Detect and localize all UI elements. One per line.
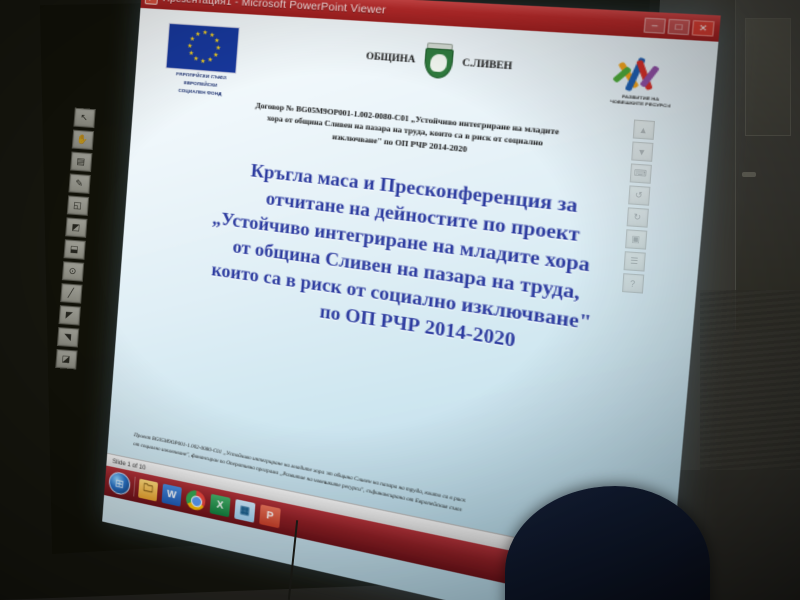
tool-eraser-icon[interactable]: ◱	[66, 195, 88, 216]
door-panel	[745, 18, 791, 136]
eu-star-icon: ★	[189, 37, 193, 41]
hr-logo-mark-icon	[599, 50, 687, 98]
slide-title: Кръгла маса и Пресконференция за отчитан…	[135, 147, 683, 377]
municipality-label-left: ОБЩИНА	[366, 50, 416, 64]
eu-star-icon: ★	[202, 31, 206, 35]
eu-star-icon: ★	[187, 44, 191, 48]
tool-pointer-icon[interactable]: ↖	[73, 108, 95, 129]
tool-hand-icon[interactable]: ✋	[71, 130, 93, 151]
eu-star-icon: ★	[209, 33, 213, 37]
tool-page-up-icon[interactable]: ▲	[632, 119, 654, 139]
sliven-coat-of-arms-icon	[421, 41, 457, 81]
tool-select-icon[interactable]: ⬓	[63, 239, 85, 260]
window-controls: – □ ✕	[644, 17, 715, 36]
start-button[interactable]: ⊞	[108, 470, 131, 496]
eu-star-icon: ★	[200, 60, 204, 64]
powerpoint-icon: P	[145, 0, 159, 4]
eu-star-icon: ★	[207, 58, 211, 62]
eu-star-icon: ★	[214, 39, 218, 43]
human-resources-development-logo: РАЗВИТИЕ НА ЧОВЕШКИТЕ РЕСУРСИ	[598, 50, 687, 110]
tool-undo-icon[interactable]: ↺	[628, 185, 650, 205]
eu-star-icon: ★	[193, 57, 197, 61]
eu-star-icon: ★	[195, 33, 199, 37]
eu-star-icon: ★	[188, 52, 192, 56]
tool-help-icon[interactable]: ?	[621, 273, 643, 293]
tool-menu-icon[interactable]: ☰	[623, 251, 645, 271]
tool-pen-icon[interactable]: ✎	[68, 173, 90, 194]
taskbar-icon-chrome[interactable]	[185, 488, 206, 511]
municipality-label-right: С.ЛИВЕН	[462, 57, 513, 72]
taskbar-icon-powerpoint[interactable]: P	[259, 504, 281, 528]
maximize-button[interactable]: □	[667, 18, 690, 35]
tool-draw-icon[interactable]: ◤	[58, 305, 80, 326]
tool-save-icon[interactable]: ▣	[625, 229, 647, 249]
tool-page-down-icon[interactable]: ▼	[631, 141, 653, 161]
tool-redo-icon[interactable]: ↻	[626, 207, 648, 227]
tool-zoom-icon[interactable]: ⊙	[61, 261, 83, 282]
photo-of-classroom-projection: P Презентация1 - Microsoft PowerPoint Vi…	[0, 0, 800, 600]
european-union-flag-icon: ★★★★★★★★★★★★	[165, 23, 239, 74]
taskbar-icon-word[interactable]: W	[162, 483, 182, 506]
taskbar-icon-media[interactable]: ▦	[234, 499, 255, 523]
municipality-block: ОБЩИНА С.ЛИВЕН	[318, 34, 567, 88]
eu-logo: ★★★★★★★★★★★★ ЕВРОПЕЙСКИ СЪЮЗ ЕВРОПЕЙСКИ …	[164, 23, 242, 100]
tool-highlighter-icon[interactable]: ▤	[70, 151, 92, 172]
taskbar-icon-excel[interactable]: X	[210, 493, 231, 517]
eu-star-icon: ★	[213, 53, 217, 57]
door-handle	[742, 172, 756, 177]
minimize-button[interactable]: –	[644, 17, 667, 33]
taskbar-icon-folder[interactable]: 🗀	[138, 478, 158, 501]
tool-color-icon[interactable]: ◪	[55, 349, 77, 370]
tool-line-icon[interactable]: ╱	[60, 283, 82, 304]
tool-shape-icon[interactable]: ◩	[65, 217, 87, 238]
tool-arrow-icon[interactable]: ◥	[56, 327, 78, 348]
close-button[interactable]: ✕	[692, 19, 715, 36]
eu-star-icon: ★	[215, 46, 219, 50]
taskbar-divider	[133, 477, 135, 497]
tool-keyboard-icon[interactable]: ⌨	[629, 163, 651, 183]
